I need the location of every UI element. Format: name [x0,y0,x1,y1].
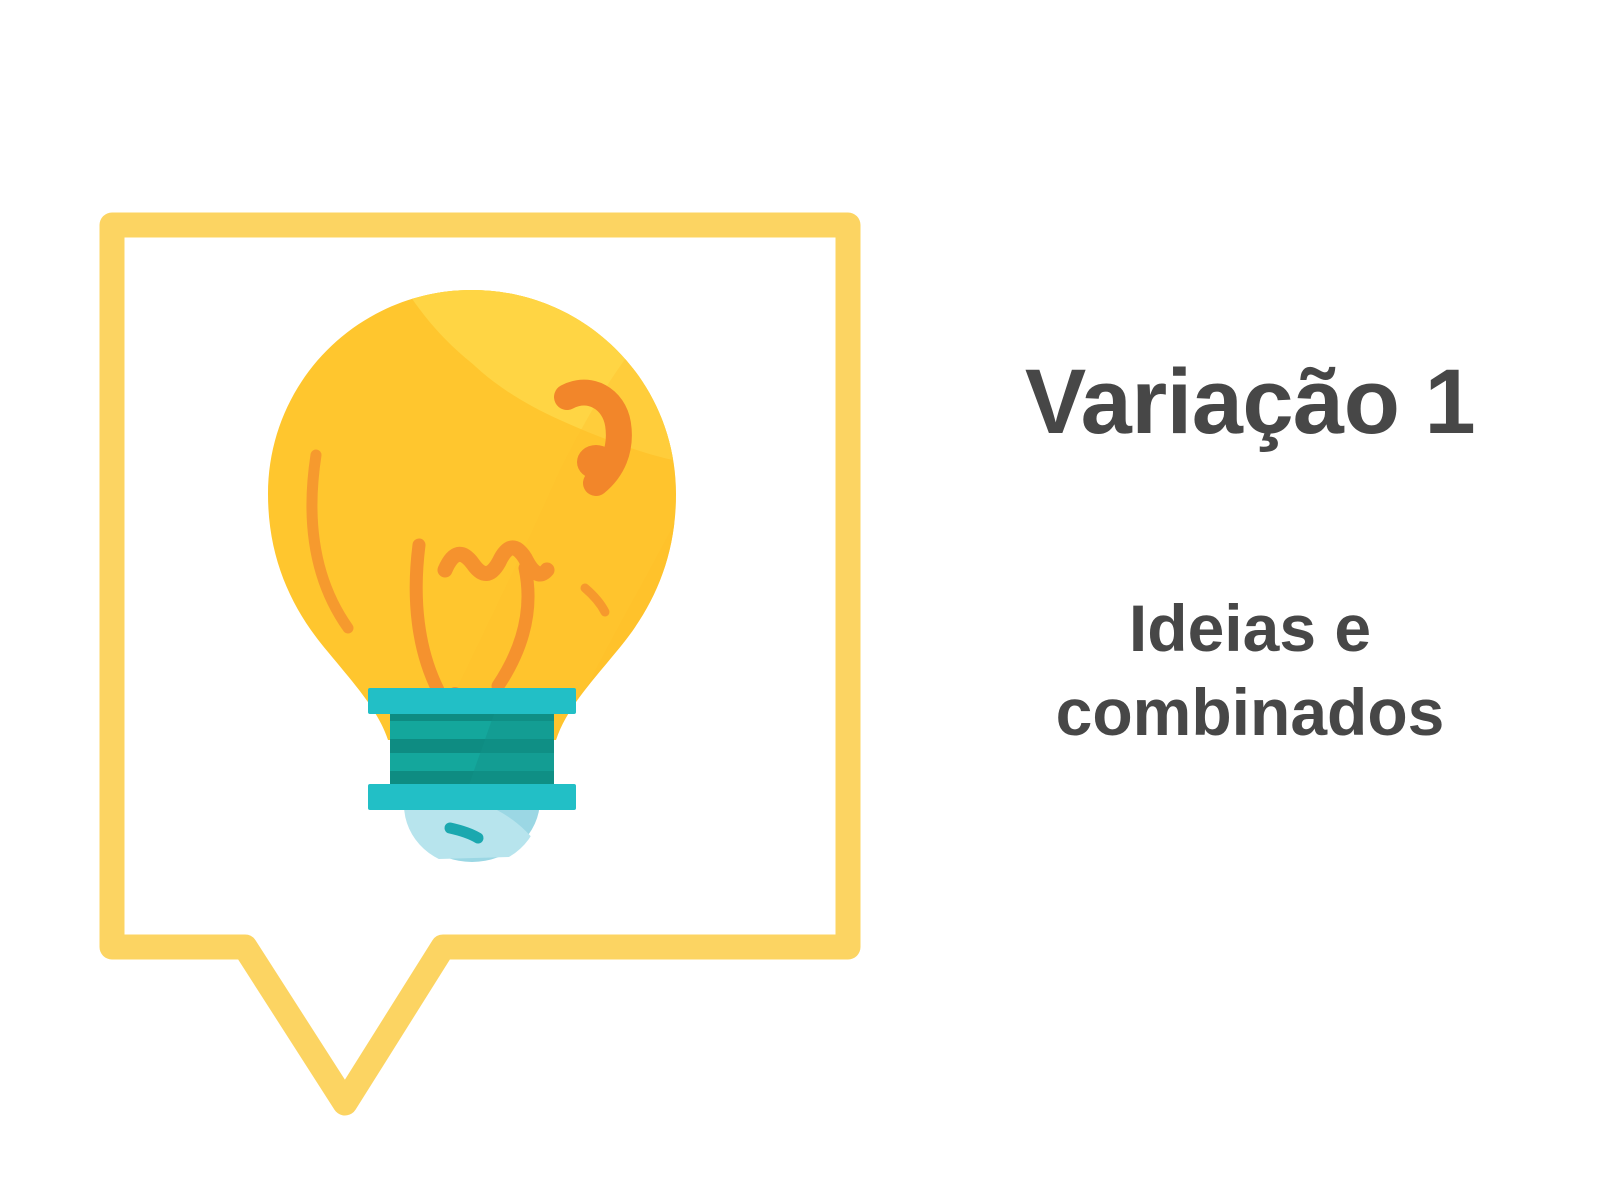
page-subtitle: Ideias e combinados [900,586,1600,755]
page-subtitle-line-2: combinados [900,670,1600,754]
text-column: Variação 1 Ideias e combinados [900,0,1600,1200]
slide-canvas: Variação 1 Ideias e combinados [0,0,1600,1200]
page-title: Variação 1 [900,356,1600,448]
bulb-shine-dot [577,445,615,479]
bulb-screw-base [368,688,576,810]
screw-band-top [368,688,576,714]
idea-lightbulb-speech-bubble-illustration [0,0,900,1200]
screw-band-bottom [368,784,576,810]
lightbulb-icon [250,250,760,862]
page-subtitle-line-1: Ideias e [900,586,1600,670]
